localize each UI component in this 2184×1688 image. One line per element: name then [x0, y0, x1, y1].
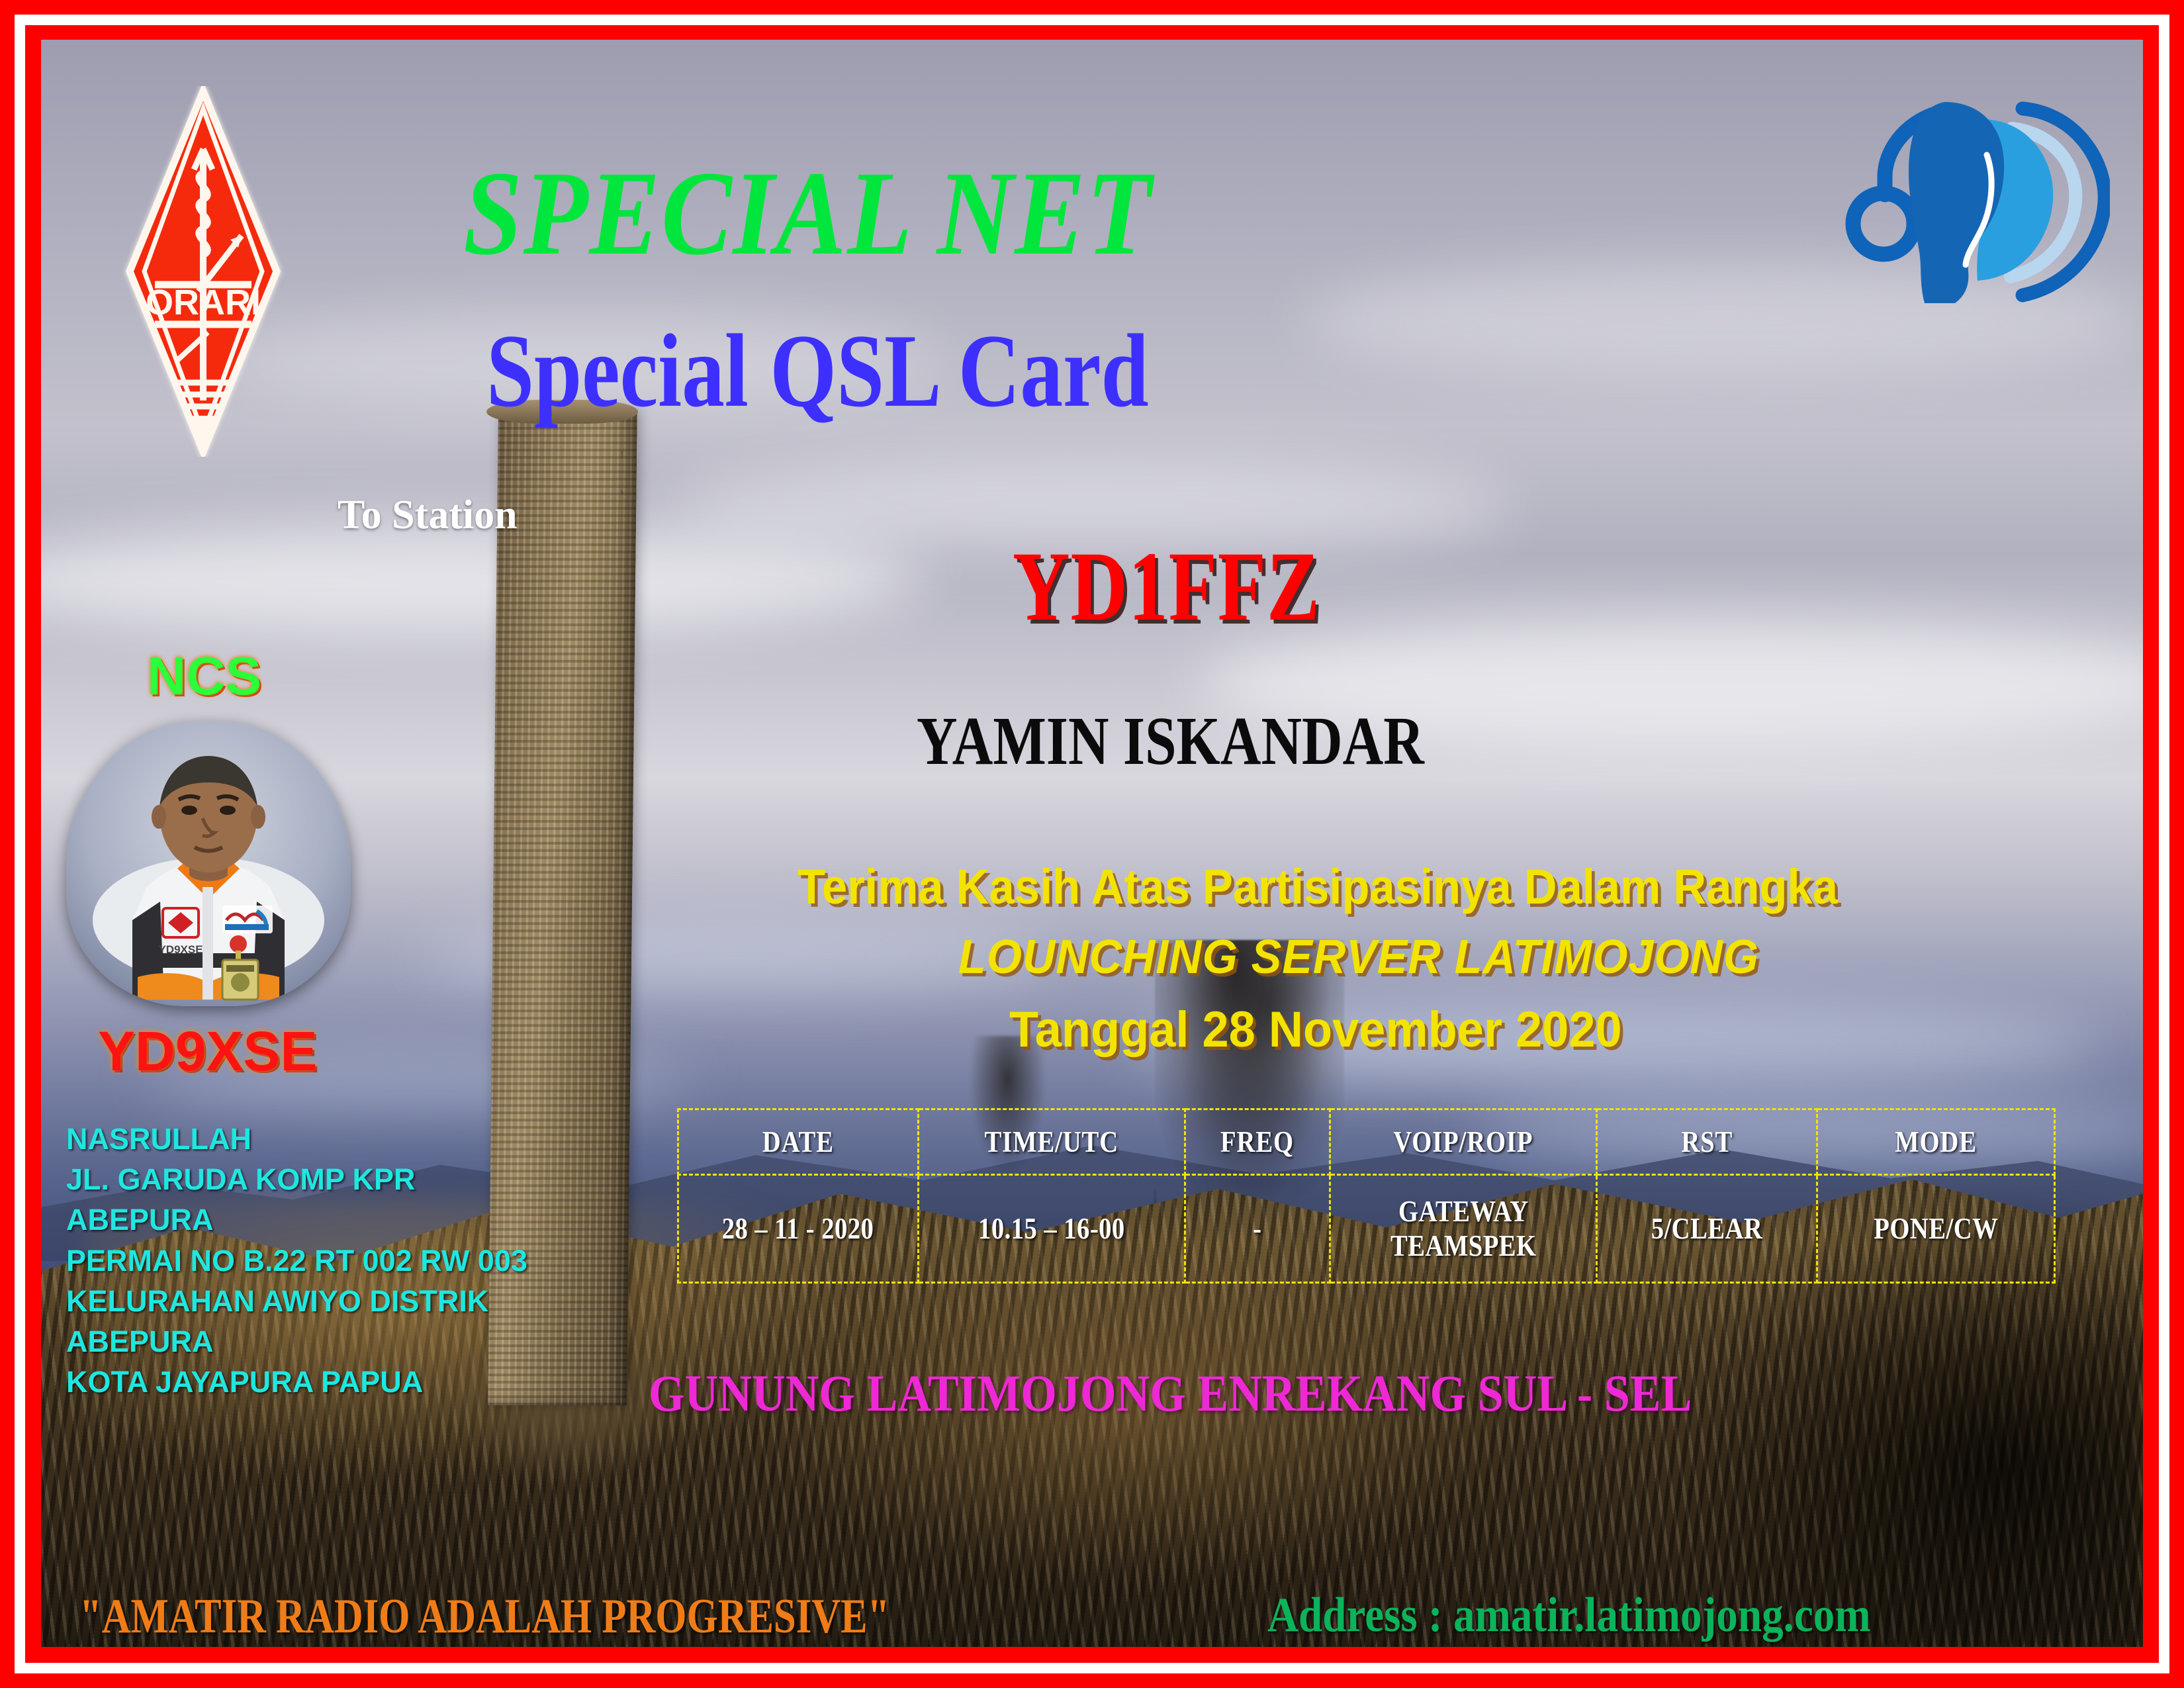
- header-text: MODE: [1895, 1125, 1977, 1159]
- cell-time: 10.15 – 16-00: [919, 1175, 1185, 1283]
- header-text: RST: [1681, 1125, 1733, 1159]
- ncs-operator-photo: YD9XSE: [66, 722, 351, 1006]
- qsl-card: ORARI SPECIAL NET Special QSL Card To St…: [0, 0, 2184, 1688]
- qso-log-table: DATE TIME/UTC FREQ VOIP/ROIP RST MODE: [677, 1108, 2056, 1284]
- cell-text: 10.15 – 16-00: [978, 1211, 1125, 1246]
- footer-motto: "AMATIR RADIO ADALAH PROGRESIVE": [79, 1589, 889, 1645]
- cell-voip: GATEWAY TEAMSPEK: [1330, 1175, 1597, 1283]
- address-line: JL. GARUDA KOMP KPR: [66, 1159, 609, 1199]
- header-text: TIME/UTC: [985, 1125, 1119, 1159]
- cell-freq: -: [1185, 1175, 1330, 1283]
- column-header-rst: RST: [1597, 1109, 1817, 1175]
- thanks-message: Terima Kasih Atas Partisipasinya Dalam R…: [797, 859, 1838, 915]
- orari-logo-text: ORARI: [146, 283, 261, 322]
- address-line: ABEPURA: [66, 1199, 609, 1240]
- event-title: LOUNCHING SERVER LATIMOJONG: [958, 930, 1759, 984]
- sender-address-block: NASRULLAH JL. GARUDA KOMP KPR ABEPURA PE…: [66, 1119, 609, 1402]
- operator-name: YAMIN ISKANDAR: [917, 702, 1424, 780]
- cell-date: 28 – 11 - 2020: [678, 1175, 919, 1283]
- ncs-callsign: YD9XSE: [98, 1019, 318, 1084]
- orari-logo: ORARI: [120, 86, 286, 457]
- cell-mode: PONE/CW: [1817, 1175, 2055, 1283]
- page-title: SPECIAL NET: [463, 144, 1152, 283]
- header-text: DATE: [762, 1125, 834, 1159]
- column-header-mode: MODE: [1817, 1109, 2055, 1175]
- column-header-date: DATE: [678, 1109, 919, 1175]
- header-text: VOIP/ROIP: [1393, 1125, 1533, 1159]
- table-row: 28 – 11 - 2020 10.15 – 16-00 - GATEWAY T…: [678, 1175, 2055, 1283]
- table-header-row: DATE TIME/UTC FREQ VOIP/ROIP RST MODE: [678, 1109, 2055, 1175]
- address-line: KOTA JAYAPURA PAPUA: [66, 1362, 609, 1402]
- address-line: KELURAHAN AWIYO DISTRIK: [66, 1281, 609, 1321]
- cell-text: 28 – 11 - 2020: [722, 1211, 874, 1246]
- page-subtitle: Special QSL Card: [486, 311, 1149, 432]
- column-header-freq: FREQ: [1185, 1109, 1330, 1175]
- cell-text: PONE/CW: [1874, 1211, 1998, 1246]
- cell-text: -: [1253, 1211, 1261, 1246]
- twig-detail: [621, 451, 693, 493]
- cell-rst: 5/CLEAR: [1597, 1175, 1817, 1283]
- address-line: PERMAI NO B.22 RT 002 RW 003: [66, 1241, 609, 1281]
- address-line: NASRULLAH: [66, 1119, 609, 1159]
- cell-text: GATEWAY: [1398, 1194, 1529, 1229]
- cell-text: TEAMSPEK: [1390, 1229, 1537, 1263]
- to-station-label: To Station: [338, 492, 518, 539]
- headset-profile-radio-icon: [1845, 85, 2110, 316]
- ncs-label: NCS: [147, 645, 261, 708]
- footer-web-address: Address : amatir.latimojong.com: [1267, 1587, 1871, 1644]
- recipient-callsign: YD1FFZ: [1013, 530, 1320, 643]
- column-header-time: TIME/UTC: [919, 1109, 1185, 1175]
- location-label: GUNUNG LATIMOJONG ENREKANG SUL - SEL: [649, 1364, 1692, 1423]
- column-header-voip: VOIP/ROIP: [1330, 1109, 1597, 1175]
- uniform-callsign-text: YD9XSE: [158, 943, 203, 956]
- address-line: ABEPURA: [66, 1321, 609, 1362]
- event-date: Tanggal 28 November 2020: [1009, 1001, 1622, 1058]
- cell-text: 5/CLEAR: [1651, 1211, 1763, 1246]
- header-text: FREQ: [1221, 1125, 1295, 1159]
